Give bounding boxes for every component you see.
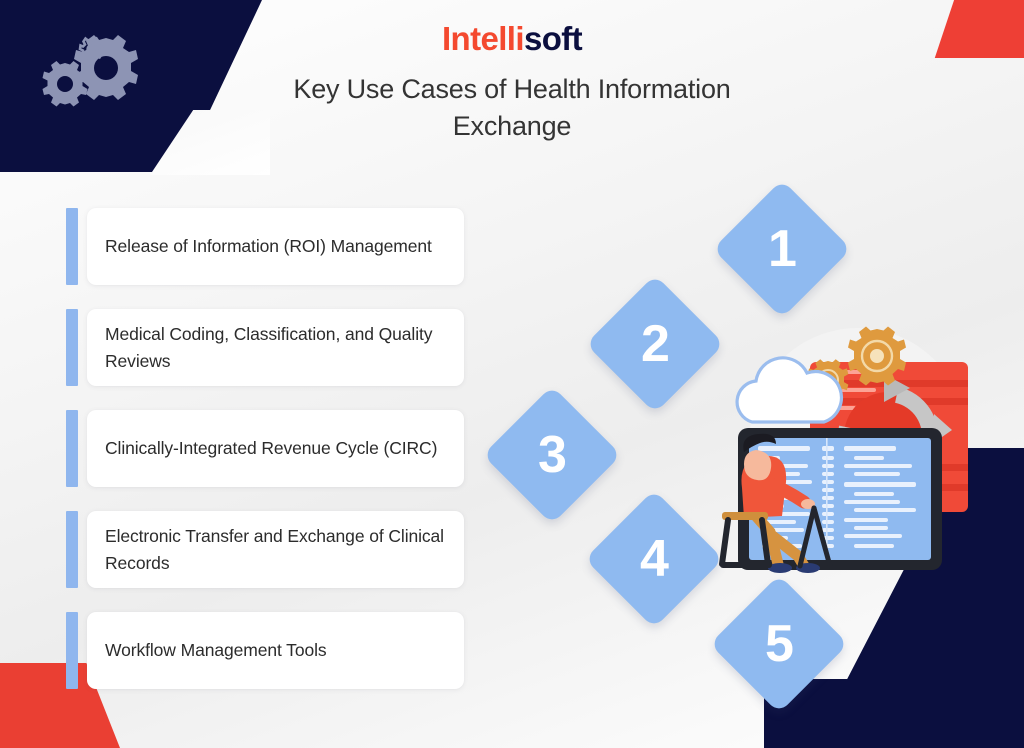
list-item-card[interactable]: Medical Coding, Classification, and Qual… <box>87 309 464 386</box>
logo-text-primary: Intelli <box>442 20 524 57</box>
use-case-list: Release of Information (ROI) Management … <box>66 208 464 689</box>
list-item[interactable]: Release of Information (ROI) Management <box>66 208 464 285</box>
diamond-number: 4 <box>640 533 668 585</box>
diamond-number: 2 <box>641 318 669 370</box>
list-item-accent-bar <box>66 511 78 588</box>
list-item[interactable]: Medical Coding, Classification, and Qual… <box>66 309 464 386</box>
diamond-number: 5 <box>765 618 793 670</box>
diamond-badge-3[interactable]: 3 <box>483 386 622 525</box>
list-item-card[interactable]: Release of Information (ROI) Management <box>87 208 464 285</box>
list-item-card[interactable]: Workflow Management Tools <box>87 612 464 689</box>
diamond-badge-5[interactable]: 5 <box>710 575 849 714</box>
list-item-label: Electronic Transfer and Exchange of Clin… <box>105 523 444 576</box>
brand-logo: Intellisoft <box>232 22 792 55</box>
list-item-card[interactable]: Electronic Transfer and Exchange of Clin… <box>87 511 464 588</box>
list-item[interactable]: Workflow Management Tools <box>66 612 464 689</box>
list-item[interactable]: Electronic Transfer and Exchange of Clin… <box>66 511 464 588</box>
list-item-accent-bar <box>66 309 78 386</box>
list-item-label: Medical Coding, Classification, and Qual… <box>105 321 444 374</box>
diamond-badge-1[interactable]: 1 <box>713 180 852 319</box>
diamond-badge-2[interactable]: 2 <box>586 275 725 414</box>
list-item-card[interactable]: Clinically-Integrated Revenue Cycle (CIR… <box>87 410 464 487</box>
diamond-number: 1 <box>768 223 796 275</box>
infographic-canvas: Intellisoft Key Use Cases of Health Info… <box>0 0 1024 748</box>
diamond-badge-4[interactable]: 4 <box>585 490 724 629</box>
diamond-number: 3 <box>538 429 566 481</box>
list-item-accent-bar <box>66 208 78 285</box>
logo-text-secondary: soft <box>524 20 582 57</box>
list-item-label: Release of Information (ROI) Management <box>105 233 432 260</box>
list-item[interactable]: Clinically-Integrated Revenue Cycle (CIR… <box>66 410 464 487</box>
list-item-label: Clinically-Integrated Revenue Cycle (CIR… <box>105 435 437 462</box>
page-title: Key Use Cases of Health Information Exch… <box>232 71 792 146</box>
list-item-label: Workflow Management Tools <box>105 637 327 664</box>
header: Intellisoft Key Use Cases of Health Info… <box>232 22 792 146</box>
list-item-accent-bar <box>66 612 78 689</box>
list-item-accent-bar <box>66 410 78 487</box>
